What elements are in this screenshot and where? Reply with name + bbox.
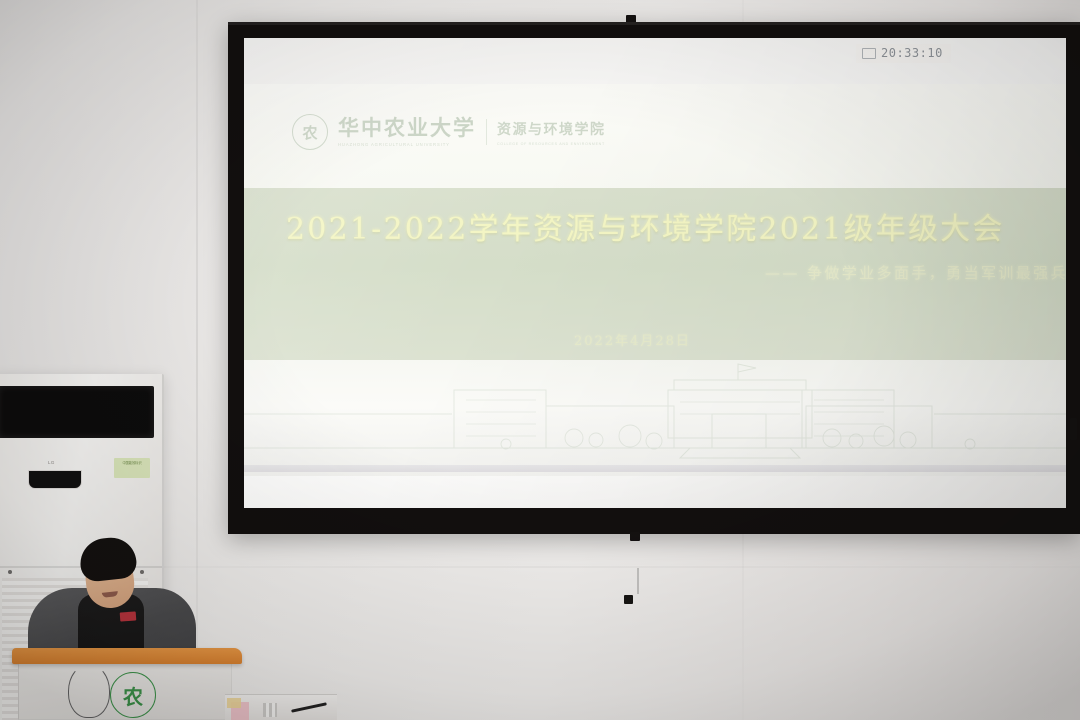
ac-top-vent <box>0 386 154 438</box>
screen-mount <box>1070 418 1077 440</box>
osd-time: 20:33:10 <box>881 46 943 60</box>
university-emblem-icon: 农 <box>110 672 156 718</box>
projection-screen: 20:33:10 农 华中农业大学 HUAZHONG AGRICULTURAL … <box>228 22 1080 534</box>
microphone-cable <box>68 664 110 718</box>
side-table <box>225 694 337 720</box>
wall-fixture-icon <box>624 595 633 604</box>
projected-slide: 农 华中农业大学 HUAZHONG AGRICULTURAL UNIVERSIT… <box>244 84 1066 476</box>
ac-brand-label: LG <box>48 460 55 465</box>
slide-date: 2022年4月28日 <box>574 330 691 349</box>
podium: 农 <box>12 648 242 720</box>
university-name-cn: 华中农业大学 <box>338 117 476 139</box>
campus-building-illustration <box>244 358 1066 466</box>
slide-ground-line <box>244 465 1066 472</box>
projector-osd: 20:33:10 <box>856 44 951 63</box>
lecture-hall-photo: 20:33:10 农 华中农业大学 HUAZHONG AGRICULTURAL … <box>0 0 1080 720</box>
ac-display-panel[interactable] <box>28 470 82 489</box>
university-logo: 农 华中农业大学 HUAZHONG AGRICULTURAL UNIVERSIT… <box>292 114 606 150</box>
table-items <box>263 703 277 717</box>
wall-fixture-stem <box>637 568 639 594</box>
college-name-en: COLLEGE OF RESOURCES AND ENVIRONMENT <box>497 142 606 146</box>
screen-mount <box>626 15 636 24</box>
table-pen <box>291 702 327 712</box>
college-name-cn: 资源与环境学院 <box>497 119 606 139</box>
ac-energy-label: 中国能效标识 <box>114 458 150 478</box>
slide-subtitle: —— 争做学业多面手，勇当军训最强兵 <box>765 262 1066 283</box>
university-name-en: HUAZHONG AGRICULTURAL UNIVERSITY <box>338 142 476 147</box>
podium-top-edge <box>12 648 242 664</box>
slide-title: 2021-2022学年资源与环境学院2021级年级大会 <box>286 204 1066 248</box>
speaker-badge <box>120 611 137 621</box>
projector-icon <box>862 48 876 59</box>
logo-divider <box>486 119 487 145</box>
speaker-hair <box>78 535 138 583</box>
screen-surface: 20:33:10 农 华中农业大学 HUAZHONG AGRICULTURAL … <box>244 38 1066 508</box>
ac-screw <box>8 570 12 574</box>
table-paper <box>227 698 241 708</box>
university-seal-icon: 农 <box>292 114 328 150</box>
screen-mount <box>630 532 640 541</box>
